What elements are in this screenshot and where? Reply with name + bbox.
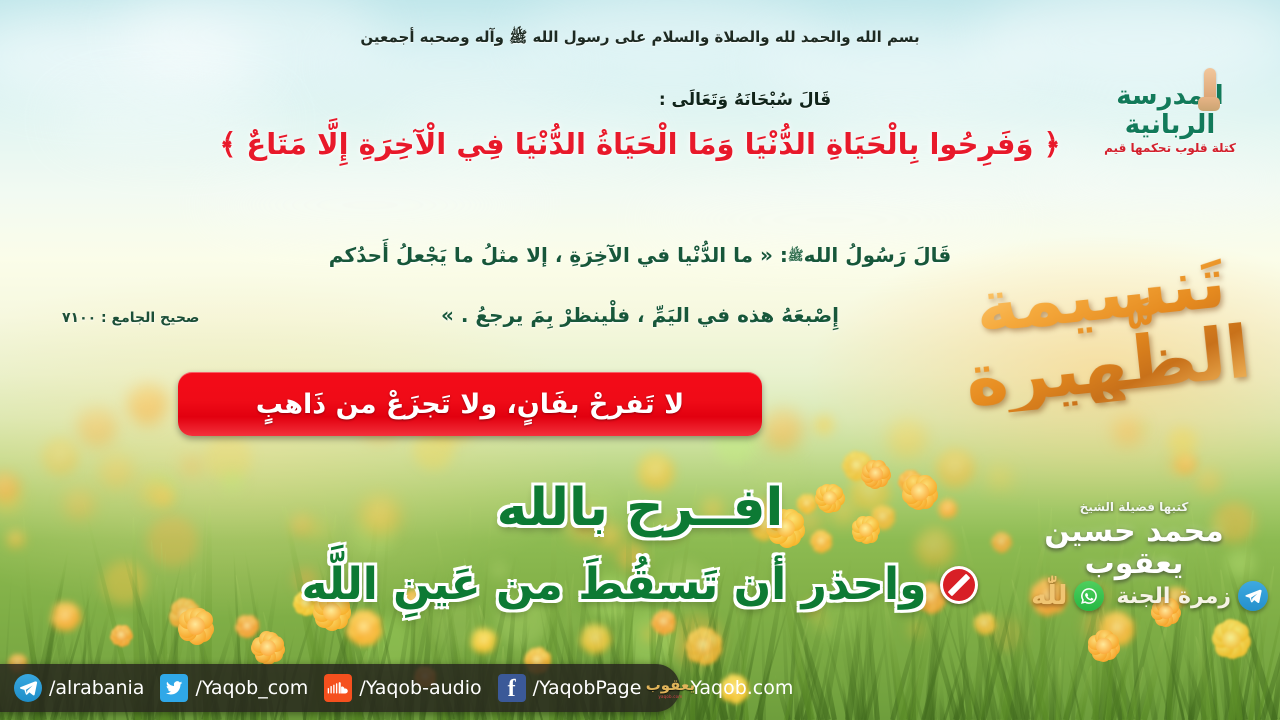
social-item-facebook[interactable]: f /YaqobPage <box>498 674 642 702</box>
brand-zumrat-aljanna[interactable]: زمرة الجنة <box>1116 581 1268 611</box>
school-logo: المدرسة الربانية كتلة قلوب تحكمها قيم <box>1090 82 1250 155</box>
social-label-website: Yaqob.com <box>690 677 793 699</box>
brand-zumrat-label: زمرة الجنة <box>1116 584 1231 609</box>
author-prefix: كتبها فضيلة الشيخ <box>1034 500 1234 514</box>
social-item-twitter[interactable]: /Yaqob_com <box>160 674 308 702</box>
red-banner: لا تَفرحْ بفَانٍ، ولا تَجزَعْ من ذَاهبٍ <box>178 372 762 436</box>
telegram-icon[interactable] <box>14 674 42 702</box>
soundcloud-icon[interactable] <box>324 674 352 702</box>
hadith-intro: قَالَ رَسُولُ الله <box>804 243 952 267</box>
brand-row: زمرة الجنة للّٰه <box>958 572 1268 620</box>
facebook-icon[interactable]: f <box>498 674 526 702</box>
pointing-finger-icon <box>1204 68 1216 102</box>
social-item-website[interactable]: يعقوب yaqob.com Yaqob.com <box>657 674 793 702</box>
school-logo-tagline: كتلة قلوب تحكمها قيم <box>1090 141 1250 155</box>
twitter-icon[interactable] <box>160 674 188 702</box>
social-label-facebook: /YaqobPage <box>533 677 642 699</box>
whatsapp-icon[interactable] <box>1074 581 1104 611</box>
basmala-line: بسم الله والحمد لله والصلاة والسلام على … <box>0 30 1280 45</box>
social-bar: /alrabania /Yaqob_com <box>0 664 680 712</box>
social-item-soundcloud[interactable]: /Yaqob-audio <box>324 674 481 702</box>
message-line-2: واحذر أن تَسقُطَ من عَينِ اللَّه <box>302 563 927 607</box>
yaqob-site-icon[interactable]: يعقوب yaqob.com <box>657 674 683 702</box>
sallallahu-icon: ﷺ <box>788 249 804 264</box>
social-label-twitter: /Yaqob_com <box>195 677 308 699</box>
poster-canvas: بسم الله والحمد لله والصلاة والسلام على … <box>0 0 1280 720</box>
series-title: تَنسيمة الظَّهيرة <box>947 243 1260 418</box>
quran-intro-label: قَالَ سُبْحَانَهُ وَتَعَالَى : <box>0 92 1280 109</box>
hadith-source: صحيح الجامع : ٧١٠٠ <box>62 311 199 325</box>
telegram-icon[interactable] <box>1238 581 1268 611</box>
social-item-telegram[interactable]: /alrabania <box>14 674 144 702</box>
quran-ayah: ﴿ وَفَرِحُوا بِالْحَيَاةِ الدُّنْيَا وَم… <box>0 130 1280 159</box>
author-credit: كتبها فضيلة الشيخ محمد حسين يعقوب <box>1034 500 1234 579</box>
hadith-text-1: : « ما الدُّنْيا في الآخِرَةِ ، إلا مثلُ… <box>329 243 788 267</box>
social-label-soundcloud: /Yaqob-audio <box>359 677 481 699</box>
social-label-telegram: /alrabania <box>49 677 144 699</box>
author-name: محمد حسين يعقوب <box>1034 516 1234 579</box>
brand-lillah-label: للّٰه <box>1031 581 1067 611</box>
school-logo-name: المدرسة الربانية <box>1090 82 1250 139</box>
red-banner-text: لا تَفرحْ بفَانٍ، ولا تَجزَعْ من ذَاهبٍ <box>256 389 685 420</box>
brand-lillah[interactable]: للّٰه <box>1031 581 1104 611</box>
